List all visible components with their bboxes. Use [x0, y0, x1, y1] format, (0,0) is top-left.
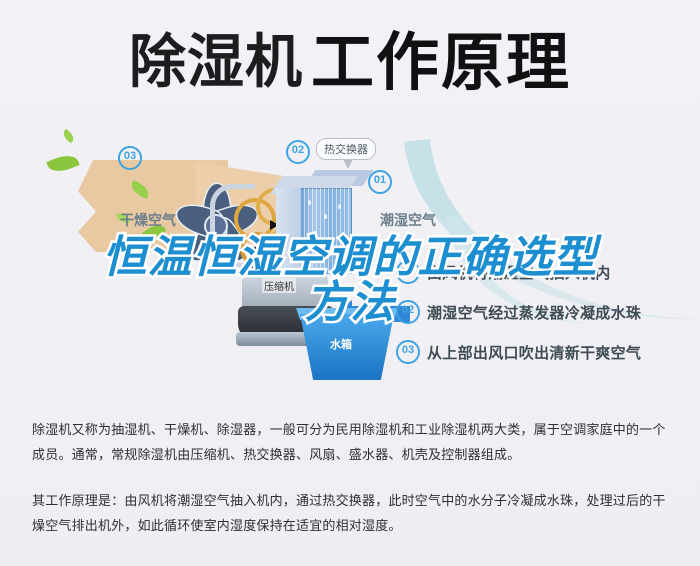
leaf-icon [46, 151, 79, 176]
step-text: 潮湿空气经过蒸发器冷凝成水珠 [427, 302, 641, 323]
step-list: 01 由风机将潮湿空气抽入机内 02 潮湿空气经过蒸发器冷凝成水珠 03 从上部… [396, 260, 696, 380]
flow-arrow-up-stem [250, 256, 254, 270]
step-badge: 02 [396, 300, 420, 324]
heat-exchanger-side [276, 188, 302, 274]
body-copy: 除湿机又称为抽湿机、干燥机、除湿器，一般可分为民用除湿机和工业除湿机两大类，属于… [32, 418, 672, 559]
badge-02: 02 [286, 140, 310, 164]
paragraph-1: 除湿机又称为抽湿机、干燥机、除湿器，一般可分为民用除湿机和工业除湿机两大类，属于… [32, 418, 672, 469]
title-part-1: 除湿机 [129, 33, 303, 91]
badge-01: 01 [368, 170, 392, 194]
title-part-2: 工作原理 [311, 31, 571, 94]
compressor-label: 压缩机 [262, 278, 296, 293]
step-badge: 01 [396, 260, 420, 284]
moist-air-label: 潮湿空气 [380, 210, 436, 230]
paragraph-2: 其工作原理是：由风机将潮湿空气抽入机内，通过热交换器，此时空气中的水分子冷凝成水… [32, 489, 672, 540]
leaf-icon [61, 129, 76, 143]
heat-exchanger-fins [300, 188, 352, 274]
step-text: 由风机将潮湿空气抽入机内 [427, 262, 611, 283]
step-item: 03 从上部出风口吹出清新干爽空气 [396, 340, 696, 364]
water-tank-label: 水箱 [330, 336, 352, 352]
step-item: 01 由风机将潮湿空气抽入机内 [396, 260, 696, 284]
heat-exchanger-bubble: 热交换器 [316, 138, 376, 160]
page-root: 除湿机 工作原理 [0, 0, 700, 566]
step-item: 02 潮湿空气经过蒸发器冷凝成水珠 [396, 300, 696, 324]
step-badge: 03 [396, 340, 420, 364]
callout-02: 02 热交换器 [286, 140, 310, 164]
step-text: 从上部出风口吹出清新干爽空气 [427, 342, 641, 363]
dry-air-label: 干燥空气 [120, 210, 176, 230]
flow-arrow-up-icon [250, 246, 260, 255]
dehumidifier-diagram: 压缩机 水箱 03 干燥空气 干燥空气 02 热交换器 热交换器 01 潮湿空气… [0, 118, 700, 400]
page-title: 除湿机 工作原理 [0, 18, 700, 106]
badge-03: 03 [118, 146, 142, 170]
callout-03: 03 干燥空气 [118, 146, 142, 170]
callout-01: 01 潮湿空气 [368, 170, 392, 194]
